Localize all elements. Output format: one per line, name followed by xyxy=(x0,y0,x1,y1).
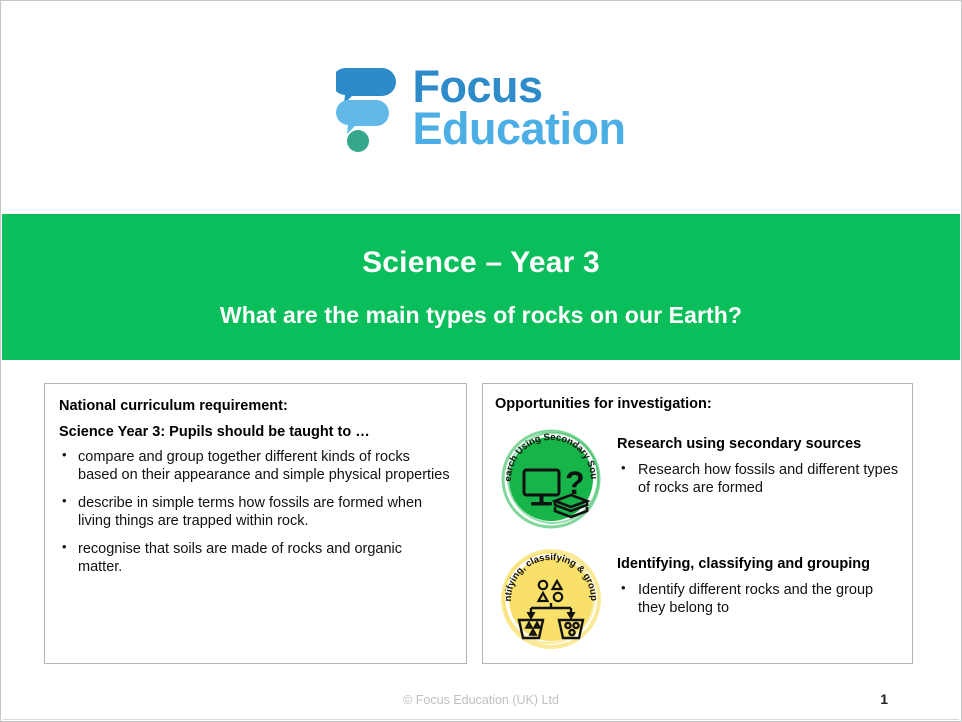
page-footer: © Focus Education (UK) Ltd 1 xyxy=(2,684,960,720)
footer-divider xyxy=(3,719,959,720)
monitor-question-books-icon: Research Using Secondary Sources ? xyxy=(495,422,607,534)
page-number: 1 xyxy=(880,691,888,707)
opportunity-row-research: Research Using Secondary Sources ? xyxy=(495,422,900,534)
opportunities-heading: Opportunities for investigation: xyxy=(495,396,900,412)
list-item: describe in simple terms how fossils are… xyxy=(59,494,450,531)
logo-word-focus: Focus xyxy=(412,66,625,107)
opportunity-bullet-list: Identify different rocks and the group t… xyxy=(617,581,900,618)
subject-year-title: Science – Year 3 xyxy=(362,246,600,280)
enquiry-question: What are the main types of rocks on our … xyxy=(220,302,742,329)
opportunity-title: Research using secondary sources xyxy=(617,436,900,454)
list-item: compare and group together different kin… xyxy=(59,448,450,485)
list-item: recognise that soils are made of rocks a… xyxy=(59,540,450,577)
curriculum-subheading: Science Year 3: Pupils should be taught … xyxy=(59,424,450,440)
opportunity-text-classifying: Identifying, classifying and grouping Id… xyxy=(617,542,900,618)
list-item: Identify different rocks and the group t… xyxy=(617,581,900,618)
focus-education-f-mark-icon xyxy=(336,64,398,152)
opportunity-text-research: Research using secondary sources Researc… xyxy=(617,422,900,498)
page-header: Focus Education xyxy=(1,1,961,214)
curriculum-bullet-list: compare and group together different kin… xyxy=(59,448,450,576)
opportunity-row-classifying: Identifying, classifying & grouping xyxy=(495,542,900,654)
curriculum-heading: National curriculum requirement: xyxy=(59,398,450,414)
copyright-text: © Focus Education (UK) Ltd xyxy=(2,693,960,707)
opportunity-bullet-list: Research how fossils and different types… xyxy=(617,461,900,498)
logo-word-education: Education xyxy=(412,108,625,149)
shapes-sorting-baskets-icon: Identifying, classifying & grouping xyxy=(495,542,607,654)
opportunities-box: Opportunities for investigation: Researc… xyxy=(482,383,913,664)
logo-wordmark: Focus Education xyxy=(412,66,625,149)
title-banner: Science – Year 3 What are the main types… xyxy=(2,214,960,360)
slide-page: Focus Education Science – Year 3 What ar… xyxy=(0,0,962,722)
curriculum-requirement-box: National curriculum requirement: Science… xyxy=(44,383,467,664)
opportunity-title: Identifying, classifying and grouping xyxy=(617,556,900,574)
list-item: Research how fossils and different types… xyxy=(617,461,900,498)
focus-education-logo: Focus Education xyxy=(336,64,625,152)
